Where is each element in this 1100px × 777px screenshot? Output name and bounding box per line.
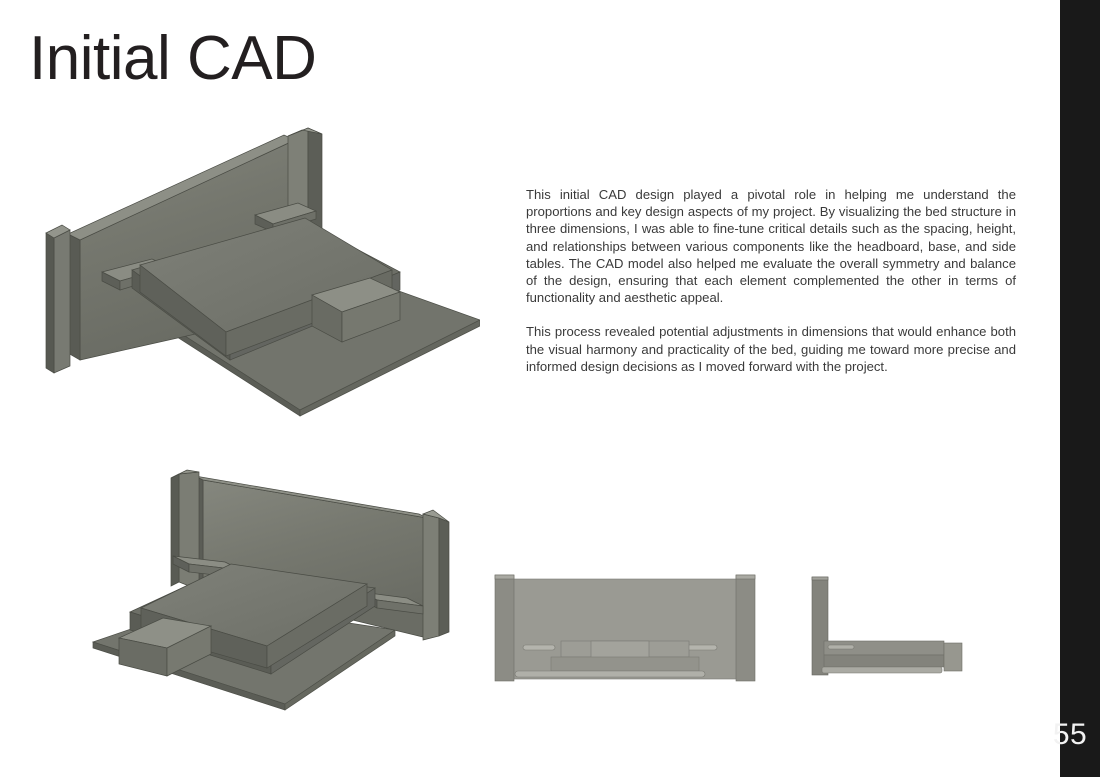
- floor-slab: [822, 667, 942, 673]
- cad-render-side-elevation: [800, 565, 980, 685]
- bed-plinth: [551, 657, 699, 671]
- page-number: 55: [1050, 718, 1090, 752]
- side-table-slot: [828, 645, 854, 649]
- cad-render-iso-front-left: [40, 120, 480, 440]
- body-copy: This initial CAD design played a pivotal…: [526, 186, 1016, 375]
- cad-render-iso-front-right: [75, 460, 465, 725]
- floor-slab: [515, 671, 705, 677]
- side-table-left-slot: [523, 645, 555, 650]
- side-table-right-slot: [685, 645, 717, 650]
- cad-render-front-elevation: [485, 565, 765, 685]
- foot-bench: [944, 643, 962, 671]
- page-sidebar: [1060, 0, 1100, 777]
- headboard-post-right: [736, 575, 755, 681]
- headboard-post-left: [46, 225, 70, 373]
- bed-plinth: [824, 655, 944, 667]
- page-title: Initial CAD: [29, 26, 316, 91]
- headboard-post-right: [423, 510, 449, 640]
- body-paragraph-2: This process revealed potential adjustme…: [526, 323, 1016, 375]
- body-paragraph-1: This initial CAD design played a pivotal…: [526, 186, 1016, 306]
- headboard-post-left: [495, 575, 514, 681]
